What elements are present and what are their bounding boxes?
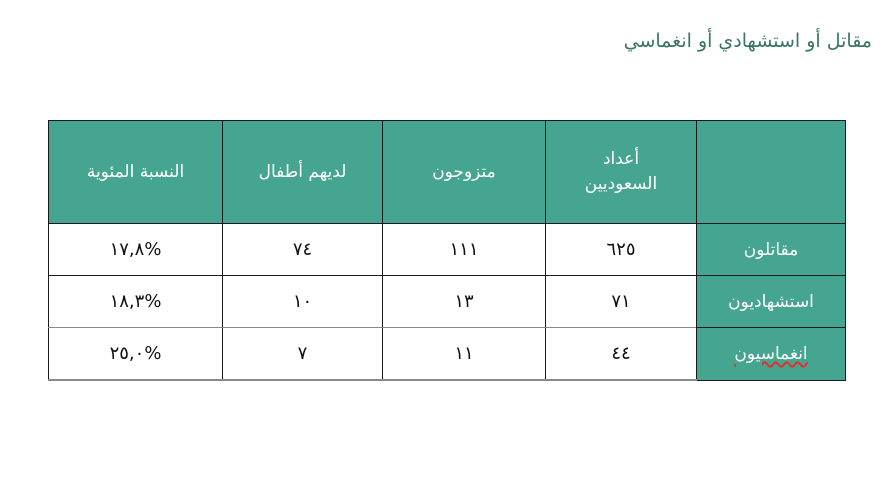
cell-saudis: ٦٢٥ xyxy=(546,224,697,276)
column-header-label xyxy=(697,121,846,224)
cell-with-children: ٧٤ xyxy=(223,224,383,276)
table-row: انغماسيون ٤٤ ١١ ٧ %٢٥,٠ xyxy=(49,328,846,381)
table-header-row: أعداد السعوديين متزوجون لديهم أطفال النس… xyxy=(49,121,846,224)
page-title: مقاتل أو استشهادي أو انغماسي xyxy=(372,27,872,55)
cell-percentage: %٢٥,٠ xyxy=(49,328,223,381)
cell-with-children: ٧ xyxy=(223,328,383,381)
cell-percentage: %١٧,٨ xyxy=(49,224,223,276)
column-header-saudis: أعداد السعوديين xyxy=(546,121,697,224)
cell-saudis: ٧١ xyxy=(546,276,697,328)
statistics-table: أعداد السعوديين متزوجون لديهم أطفال النس… xyxy=(48,120,846,381)
column-header-married: متزوجون xyxy=(383,121,546,224)
cell-with-children: ١٠ xyxy=(223,276,383,328)
table-header: أعداد السعوديين متزوجون لديهم أطفال النس… xyxy=(49,121,846,224)
cell-married: ١١١ xyxy=(383,224,546,276)
table-row: مقاتلون ٦٢٥ ١١١ ٧٤ %١٧,٨ xyxy=(49,224,846,276)
row-label-martyrdom-seekers: استشهاديون xyxy=(697,276,846,328)
row-label-inghimasiyun: انغماسيون xyxy=(697,328,846,381)
cell-married: ١١ xyxy=(383,328,546,381)
row-label-text: انغماسيون xyxy=(734,344,807,364)
column-header-with-children: لديهم أطفال xyxy=(223,121,383,224)
column-header-saudis-line1: أعداد xyxy=(603,149,639,169)
table-row: استشهاديون ٧١ ١٣ ١٠ %١٨,٣ xyxy=(49,276,846,328)
column-header-percentage: النسبة المئوية xyxy=(49,121,223,224)
table-body: مقاتلون ٦٢٥ ١١١ ٧٤ %١٧,٨ استشهاديون ٧١ ١… xyxy=(49,224,846,381)
row-label-text: استشهاديون xyxy=(728,292,814,312)
row-label-fighters: مقاتلون xyxy=(697,224,846,276)
cell-saudis: ٤٤ xyxy=(546,328,697,381)
row-label-text: مقاتلون xyxy=(744,240,799,260)
column-header-saudis-line2: السعوديين xyxy=(585,174,657,194)
cell-married: ١٣ xyxy=(383,276,546,328)
cell-percentage: %١٨,٣ xyxy=(49,276,223,328)
